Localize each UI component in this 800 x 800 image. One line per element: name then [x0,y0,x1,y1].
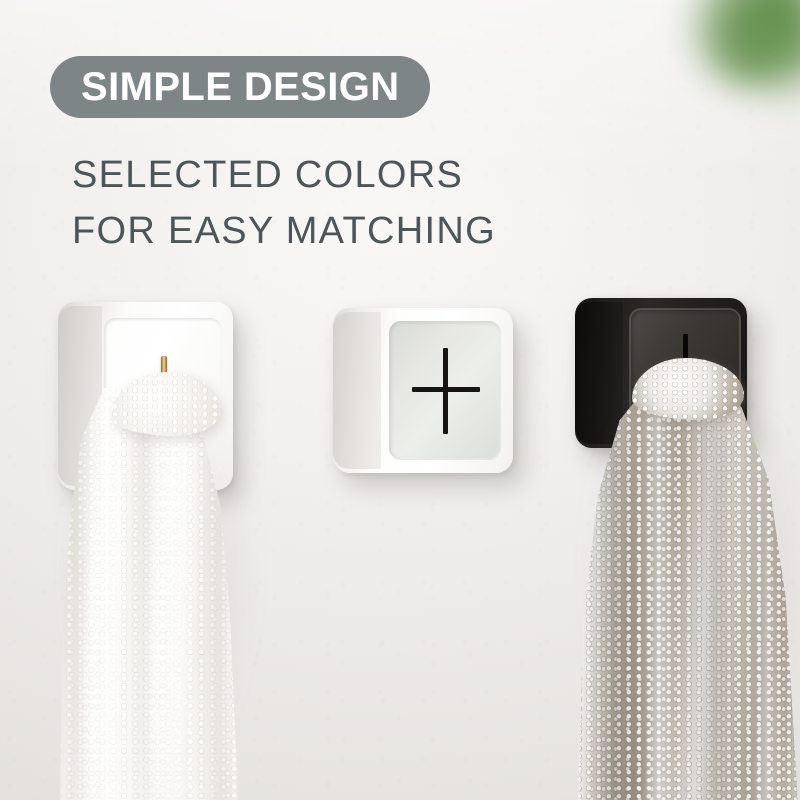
foliage-blur-icon [692,0,800,84]
towel-gray-shadow [580,420,800,790]
product-hook-white-left [58,302,233,490]
subtitle-line-1: SELECTED COLORS [72,147,496,203]
hook-side-wall [575,302,623,444]
hook-side-wall [333,312,381,469]
headline-badge-label: SIMPLE DESIGN [81,67,400,107]
product-hook-white-center [333,308,513,473]
subtitle-line-2: FOR EASY MATCHING [72,203,496,259]
headline-badge: SIMPLE DESIGN [50,56,430,118]
hook-cross-slot-vertical-icon [683,334,688,392]
product-marketing-image: SIMPLE DESIGN SELECTED COLORS FOR EASY M… [0,0,800,800]
product-hook-black-right [575,298,747,448]
hook-brass-pin-icon [161,356,167,420]
hook-side-wall [58,306,102,486]
hook-cross-slot-vertical-icon [443,348,448,434]
subtitle-block: SELECTED COLORS FOR EASY MATCHING [72,147,496,259]
foliage-blur-secondary-icon [740,10,800,102]
